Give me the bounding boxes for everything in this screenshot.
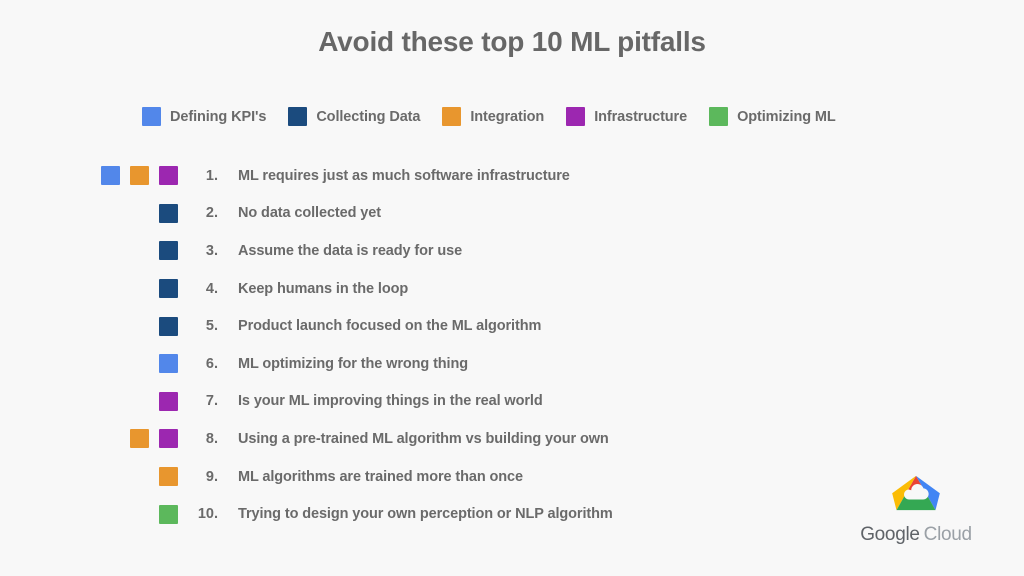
pitfall-number: 8. [168,420,218,458]
category-swatch-icon [101,166,120,185]
legend: Defining KPI'sCollecting DataIntegration… [142,107,858,126]
legend-item-integration[interactable]: Integration [442,107,544,126]
google-cloud-branding: GoogleCloud [860,474,972,546]
pitfall-row: 7.Is your ML improving things in the rea… [0,383,1024,421]
pitfall-category-swatches [0,307,178,345]
pitfall-number: 2. [168,195,218,233]
pitfall-row: 2.No data collected yet [0,195,1024,233]
pitfall-row: 3.Assume the data is ready for use [0,232,1024,270]
legend-item-label: Defining KPI's [170,109,266,125]
legend-item-collecting-data[interactable]: Collecting Data [288,107,420,126]
pitfall-category-swatches [0,232,178,270]
legend-item-optimizing-ml[interactable]: Optimizing ML [709,107,836,126]
pitfall-text: No data collected yet [238,195,381,233]
pitfall-text: Assume the data is ready for use [238,232,462,270]
pitfall-category-swatches [0,345,178,383]
category-swatch-icon [130,166,149,185]
legend-item-label: Integration [470,109,544,125]
wordmark-cloud: Cloud [924,524,972,545]
pitfall-number: 3. [168,232,218,270]
legend-item-defining-kpis[interactable]: Defining KPI's [142,107,266,126]
pitfall-number: 5. [168,307,218,345]
legend-swatch-icon [709,107,728,126]
pitfall-text: Is your ML improving things in the real … [238,383,543,421]
category-swatch-icon [130,429,149,448]
pitfall-category-swatches [0,157,178,195]
pitfall-row: 1.ML requires just as much software infr… [0,157,1024,195]
pitfall-number: 10. [168,495,218,533]
pitfall-number: 9. [168,458,218,496]
legend-item-label: Collecting Data [316,109,420,125]
pitfall-text: ML requires just as much software infras… [238,157,570,195]
pitfall-category-swatches [0,270,178,308]
pitfall-row: 6.ML optimizing for the wrong thing [0,345,1024,383]
pitfall-text: Using a pre-trained ML algorithm vs buil… [238,420,609,458]
pitfall-category-swatches [0,383,178,421]
pitfall-text: Trying to design your own perception or … [238,495,613,533]
pitfall-text: ML optimizing for the wrong thing [238,345,468,383]
pitfall-text: Product launch focused on the ML algorit… [238,307,541,345]
legend-item-infrastructure[interactable]: Infrastructure [566,107,687,126]
legend-item-label: Infrastructure [594,109,687,125]
pitfall-number: 6. [168,345,218,383]
pitfall-text: ML algorithms are trained more than once [238,458,523,496]
google-cloud-wordmark: GoogleCloud [860,524,972,546]
wordmark-google: Google [860,524,919,545]
legend-swatch-icon [142,107,161,126]
legend-item-label: Optimizing ML [737,109,836,125]
pitfall-number: 1. [168,157,218,195]
legend-swatch-icon [442,107,461,126]
pitfall-row: 4.Keep humans in the loop [0,270,1024,308]
google-cloud-logo-icon [890,474,942,516]
pitfall-number: 4. [168,270,218,308]
legend-swatch-icon [566,107,585,126]
pitfall-row: 8.Using a pre-trained ML algorithm vs bu… [0,420,1024,458]
pitfall-number: 7. [168,383,218,421]
page-title: Avoid these top 10 ML pitfalls [0,26,1024,58]
pitfall-category-swatches [0,495,178,533]
pitfall-row: 5.Product launch focused on the ML algor… [0,307,1024,345]
pitfall-category-swatches [0,195,178,233]
legend-swatch-icon [288,107,307,126]
pitfall-category-swatches [0,420,178,458]
pitfall-category-swatches [0,458,178,496]
pitfall-text: Keep humans in the loop [238,270,408,308]
